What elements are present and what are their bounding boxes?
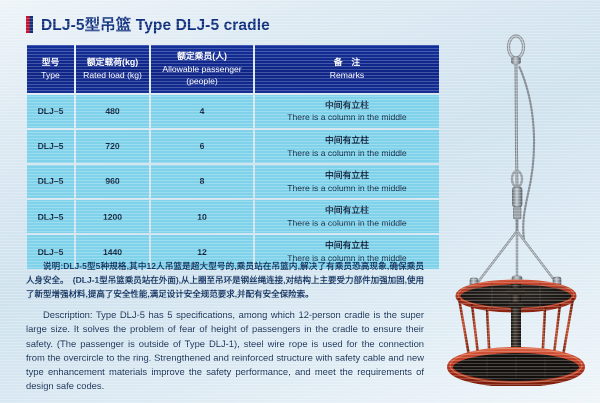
cell-rated-load: 960 [76,165,149,198]
cell-remarks: 中间有立柱 There is a column in the middle [255,130,439,163]
lifting-ring-icon [509,36,524,64]
column-header-type: 型号 Type [27,45,74,93]
cell-type: DLJ–5 [27,95,74,128]
base-platform [450,349,582,387]
cell-type: DLJ–5 [27,200,74,233]
cell-remarks-cn: 中间有立柱 [257,204,437,217]
page-title: DLJ-5型吊篮 Type DLJ-5 cradle [26,13,270,35]
cell-type: DLJ–5 [27,130,74,163]
column-header-type-en: Type [29,69,72,81]
cell-passengers: 4 [151,95,253,128]
cell-remarks: 中间有立柱 There is a column in the middle [255,95,439,128]
page-title-text: DLJ-5型吊篮 Type DLJ-5 cradle [41,13,270,35]
table-row: DLJ–5 960 8 中间有立柱 There is a column in t… [27,165,439,198]
catalog-page: DLJ-5型吊篮 Type DLJ-5 cradle 型号 Type 额定载荷(… [0,0,600,403]
cell-remarks-cn: 中间有立柱 [257,134,437,147]
cell-remarks-cn: 中间有立柱 [257,99,437,112]
cell-passengers: 8 [151,165,253,198]
cell-passengers: 10 [151,200,253,233]
cell-rated-load: 1200 [76,200,149,233]
cell-remarks-en: There is a column in the middle [257,147,437,159]
column-header-remarks-en: Remarks [257,69,437,81]
column-header-remarks-cn: 备 注 [257,56,437,69]
cell-remarks-en: There is a column in the middle [257,217,437,229]
column-header-passengers-cn: 额定乘员(人) [153,50,251,63]
cell-remarks-cn: 中间有立柱 [257,169,437,182]
cell-remarks-en: There is a column in the middle [257,182,437,194]
table-body: DLJ–5 480 4 中间有立柱 There is a column in t… [27,95,439,269]
table-row: DLJ–5 720 6 中间有立柱 There is a column in t… [27,130,439,163]
cell-remarks-en: There is a column in the middle [257,111,437,123]
column-header-passengers: 额定乘员(人) Allowable passenger (people) [151,45,253,93]
table-row: DLJ–5 1200 10 中间有立柱 There is a column in… [27,200,439,233]
cell-rated-load: 720 [76,130,149,163]
product-photo-cradle [432,26,600,386]
cell-remarks-cn: 中间有立柱 [257,239,437,252]
column-header-rated-load-en: Rated load (kg) [78,69,147,81]
title-accent-bar-icon [26,16,33,33]
cradle-illustration [432,26,600,386]
column-header-type-cn: 型号 [29,56,72,69]
description-english: Description: Type DLJ-5 has 5 specificat… [26,308,424,394]
specification-table: 型号 Type 额定载荷(kg) Rated load (kg) 额定乘员(人)… [25,43,441,271]
description-chinese: 说明:DLJ-5型5种规格,其中12人吊篮是超大型号的,乘员站在吊篮内,解决了有… [26,260,424,301]
cell-type: DLJ–5 [27,165,74,198]
column-header-remarks: 备 注 Remarks [255,45,439,93]
column-header-rated-load-cn: 额定载荷(kg) [78,56,147,69]
cell-remarks: 中间有立柱 There is a column in the middle [255,200,439,233]
column-header-passengers-en: Allowable passenger (people) [153,63,251,88]
cell-rated-load: 480 [76,95,149,128]
table-row: DLJ–5 480 4 中间有立柱 There is a column in t… [27,95,439,128]
table-header-row: 型号 Type 额定载荷(kg) Rated load (kg) 额定乘员(人)… [27,45,439,93]
column-header-rated-load: 额定载荷(kg) Rated load (kg) [76,45,149,93]
table-header: 型号 Type 额定载荷(kg) Rated load (kg) 额定乘员(人)… [27,45,439,93]
cell-passengers: 6 [151,130,253,163]
cell-remarks: 中间有立柱 There is a column in the middle [255,165,439,198]
